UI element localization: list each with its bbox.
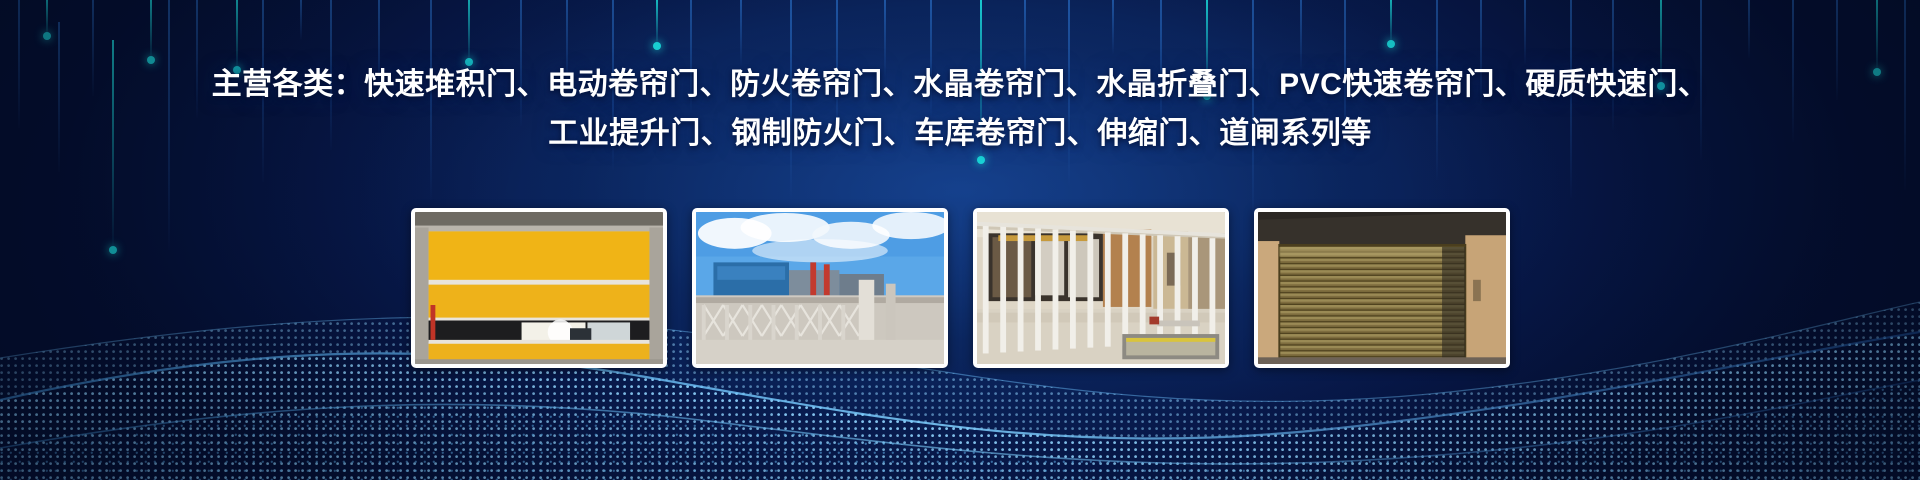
tech-line (656, 0, 658, 46)
product-photo-retractable-gate-outdoor[interactable] (692, 208, 948, 368)
tech-line (46, 0, 48, 36)
tech-line (1112, 0, 1114, 54)
headline-line-1: 主营各类：快速堆积门、电动卷帘门、防火卷帘门、水晶卷帘门、水晶折叠门、PVC快速… (0, 60, 1920, 109)
product-photo-strip (0, 208, 1920, 368)
tech-line-dot (43, 32, 51, 40)
product-photo-fast-stacking-door[interactable] (411, 208, 667, 368)
tech-line (300, 0, 302, 40)
tech-line (150, 0, 152, 60)
promo-banner: 主营各类：快速堆积门、电动卷帘门、防火卷帘门、水晶卷帘门、水晶折叠门、PVC快速… (0, 0, 1920, 480)
tech-line-dot (1387, 40, 1395, 48)
tech-line (1524, 0, 1526, 64)
tech-line (740, 0, 742, 66)
tech-line (468, 0, 470, 62)
product-photo-rolling-shutter-door[interactable] (1254, 208, 1510, 368)
product-photo-retractable-gate-indoor[interactable] (973, 208, 1229, 368)
tech-line (1748, 0, 1750, 58)
headline-line-2: 工业提升门、钢制防火门、车库卷帘门、伸缩门、道闸系列等 (0, 109, 1920, 158)
tech-line (1390, 0, 1392, 44)
page-title: 主营各类：快速堆积门、电动卷帘门、防火卷帘门、水晶卷帘门、水晶折叠门、PVC快速… (0, 60, 1920, 158)
tech-line-dot (653, 42, 661, 50)
